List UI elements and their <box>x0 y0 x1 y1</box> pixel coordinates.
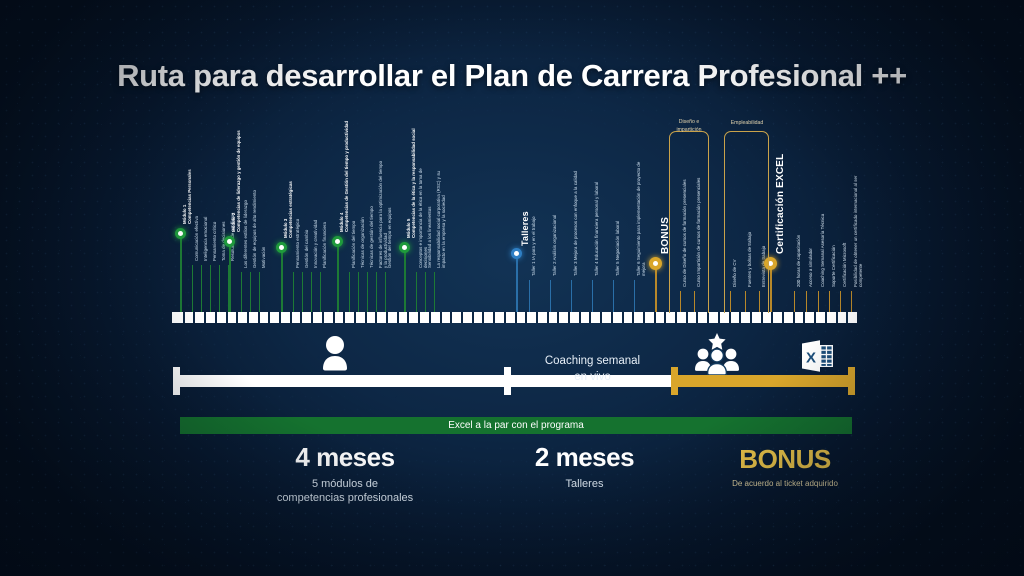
module-1-item-2: Inteligencia emocional <box>204 217 209 261</box>
node-stem <box>302 272 303 312</box>
node-dot[interactable] <box>332 236 343 247</box>
axis-tick <box>311 312 313 323</box>
axis-tick <box>825 312 827 323</box>
node-stem <box>806 291 807 312</box>
module-5-header-line2: Competencias de la ética y la responsabi… <box>412 128 417 238</box>
excel-cert-item-2: Acceso a simulador <box>809 248 814 287</box>
axis-tick <box>836 312 838 323</box>
node-stem <box>592 280 593 312</box>
axis-tick <box>204 312 206 323</box>
node-stem <box>770 262 772 312</box>
metric-bonus: BONUS De acuerdo al ticket adquirido <box>690 444 880 489</box>
axis-tick <box>525 312 527 323</box>
metric-sub-0: 5 módulos de competencias profesionales <box>230 477 460 506</box>
module-1-item-3: Pensamiento crítico <box>213 222 218 261</box>
node-dot-core <box>279 245 284 250</box>
axis-tick <box>632 312 634 323</box>
axis-tick <box>450 312 452 323</box>
axis-tick <box>696 312 698 323</box>
axis-tick <box>782 312 784 323</box>
node-stem <box>655 262 657 312</box>
axis-tick <box>247 312 249 323</box>
axis-tick <box>268 312 270 323</box>
node-dot[interactable] <box>511 248 522 259</box>
excel-cert-item-5: Certificación Microsoft <box>843 243 848 287</box>
axis-tick <box>290 312 292 323</box>
module-3-item-2: Gestión del cambio <box>305 230 310 268</box>
axis-tick <box>482 312 484 323</box>
axis-tick <box>814 312 816 323</box>
metric-sub-0-line1: 5 módulos de <box>230 477 460 491</box>
metric-2-meses: 2 meses Talleres <box>487 442 682 491</box>
axis-tick <box>183 312 185 323</box>
node-stem <box>425 272 426 312</box>
module-5-item-3: La responsabilidad social corporativa (R… <box>437 160 447 268</box>
node-stem <box>180 232 182 312</box>
node-stem <box>259 272 260 312</box>
axis-tick <box>643 312 645 323</box>
axis-tick <box>418 312 420 323</box>
node-dot[interactable] <box>276 242 287 253</box>
node-stem <box>349 272 350 312</box>
module-4-item-3: Técnicas de gestión del tiempo <box>370 206 375 268</box>
module-4-header-line2: Competencias de Gestión del tiempo y pro… <box>345 121 350 232</box>
node-stem <box>358 272 359 312</box>
axis-tick <box>375 312 377 323</box>
node-stem <box>229 240 231 312</box>
excel-cert-item-6: Posibilidad de obtener un certificado in… <box>854 169 864 287</box>
module-2-item-1: Los diferentes estilos de liderazgo <box>244 200 249 268</box>
coaching-label-line2: en vivo <box>510 370 675 386</box>
coaching-label: Coaching semanal en vivo <box>510 354 675 385</box>
module-1-header-line2: Competencias Personales <box>188 169 193 224</box>
axis-tick <box>622 312 624 323</box>
node-dot-core <box>178 231 183 236</box>
group-star-icon <box>693 333 741 375</box>
metric-number-1: 2 meses <box>487 442 682 473</box>
node-stem <box>634 280 635 312</box>
taller-item-1: Taller 1 IA para y en el trabajo <box>532 216 537 276</box>
axis-tick <box>504 312 506 323</box>
node-stem <box>840 291 841 312</box>
module-3-item-4: Planificación financiera <box>323 222 328 268</box>
node-stem <box>320 272 321 312</box>
axis-tick <box>664 312 666 323</box>
axis-tick <box>343 312 345 323</box>
node-stem <box>219 265 220 312</box>
axis-tick <box>461 312 463 323</box>
axis-tick <box>611 312 613 323</box>
talleres-header: Talleres <box>520 211 531 246</box>
timeline-cap-end <box>848 367 855 395</box>
taller-item-2: Taller 2 Análisis organizacional <box>553 215 558 276</box>
bracket-label-empleabilidad: Empleabilidad <box>714 120 780 126</box>
node-stem <box>192 265 193 312</box>
axis-tick <box>279 312 281 323</box>
module-2-item-2: Gestión de equipos de alto rendimiento <box>253 190 258 268</box>
page-title: Ruta para desarrollar el Plan de Carrera… <box>0 58 1024 94</box>
module-2-header-line2: Competencias de liderazgo y gestión de e… <box>237 130 242 232</box>
metric-4-meses: 4 meses 5 módulos de competencias profes… <box>230 442 460 506</box>
node-dot-core <box>335 239 340 244</box>
bracket-empleabilidad <box>724 131 769 313</box>
timeline-cap-start <box>173 367 180 395</box>
axis-tick <box>707 312 709 323</box>
node-stem <box>250 272 251 312</box>
node-stem <box>851 291 852 312</box>
axis-tick <box>718 312 720 323</box>
node-stem <box>201 265 202 312</box>
axis-tick <box>547 312 549 323</box>
module-3-header-line2: Competencias estratégicas <box>289 181 294 238</box>
timeline-axis <box>172 312 857 323</box>
axis-tick <box>846 312 848 323</box>
module-4-item-1: Planificación del tiempo <box>352 221 357 268</box>
axis-tick <box>472 312 474 323</box>
node-stem <box>550 280 551 312</box>
metric-sub-2: De acuerdo al ticket adquirido <box>690 479 880 489</box>
module-1-header: Módulo 1Competencias Personales <box>182 169 193 224</box>
node-stem <box>293 272 294 312</box>
bracket-label-diseno-line1: Diseño e <box>657 119 721 125</box>
module-3-header: Módulo 3Competencias estratégicas <box>283 181 294 238</box>
metric-sub-0-line2: competencias profesionales <box>230 491 460 505</box>
node-stem <box>404 246 406 312</box>
axis-tick <box>771 312 773 323</box>
node-stem <box>337 240 339 312</box>
axis-tick <box>300 312 302 323</box>
axis-tick <box>193 312 195 323</box>
excel-cert-item-4: Soporte Certificación <box>832 245 837 287</box>
metric-number-2: BONUS <box>690 444 880 475</box>
axis-tick <box>793 312 795 323</box>
axis-tick <box>589 312 591 323</box>
node-stem <box>613 280 614 312</box>
module-3-item-3: Innovación y creatividad <box>314 220 319 268</box>
axis-tick <box>579 312 581 323</box>
axis-tick <box>515 312 517 323</box>
bracket-label-diseno-line2: impartición <box>657 127 721 133</box>
node-stem <box>311 272 312 312</box>
excel-cert-item-3: Coaching Semanal Asesoría Técnica <box>821 214 826 287</box>
axis-tick <box>215 312 217 323</box>
node-stem <box>818 291 819 312</box>
timeline-segment-bonus <box>676 375 852 387</box>
axis-tick <box>600 312 602 323</box>
metric-number-0: 4 meses <box>230 442 460 473</box>
axis-tick <box>557 312 559 323</box>
axis-tick <box>761 312 763 323</box>
axis-tick <box>568 312 570 323</box>
taller-item-3: Taller 3 Mejora de procesos con enfoque … <box>574 171 579 276</box>
axis-tick <box>750 312 752 323</box>
node-dot-core <box>653 261 658 266</box>
axis-tick <box>536 312 538 323</box>
metric-sub-1: Talleres <box>487 477 682 491</box>
node-dot-core <box>402 245 407 250</box>
excel-cert-header: Certificación EXCEL <box>775 154 788 255</box>
node-stem <box>529 280 530 312</box>
axis-tick <box>407 312 409 323</box>
excel-parallel-label: Excel a la par con el programa <box>448 420 584 431</box>
bracket-diseno-imparticion <box>669 131 709 313</box>
axis-tick <box>803 312 805 323</box>
axis-tick <box>397 312 399 323</box>
node-stem <box>416 272 417 312</box>
axis-tick <box>333 312 335 323</box>
node-stem <box>434 272 435 312</box>
taller-item-5: Taller 5 Negociación laboral <box>616 221 621 276</box>
module-5-item-2: Sensibilidad a los lineamientos <box>428 207 433 268</box>
node-stem <box>241 272 242 312</box>
excel-parallel-bar: Excel a la par con el programa <box>180 417 852 434</box>
coaching-label-line1: Coaching semanal <box>510 354 675 370</box>
node-dot-core <box>768 261 773 266</box>
taller-item-6: Taller 6 Seguimiento para implementación… <box>637 154 647 276</box>
svg-text:X: X <box>806 350 816 367</box>
module-2-header: Módulo 2Competencias de liderazgo y gest… <box>231 130 242 232</box>
axis-tick <box>354 312 356 323</box>
excel-icon: X <box>798 337 836 375</box>
axis-tick <box>729 312 731 323</box>
axis-tick <box>739 312 741 323</box>
person-icon <box>318 335 352 373</box>
axis-tick <box>258 312 260 323</box>
node-stem <box>367 272 368 312</box>
node-dot[interactable] <box>649 257 662 270</box>
axis-tick <box>386 312 388 323</box>
node-stem <box>210 265 211 312</box>
module-2-item-3: Motivación <box>262 247 267 268</box>
module-1-item-1: Comunicación efectiva <box>195 216 200 261</box>
node-stem <box>281 246 283 312</box>
node-dot[interactable] <box>224 236 235 247</box>
axis-tick <box>322 312 324 323</box>
module-4-item-5: Gestión del tiempo en equipos <box>388 207 393 268</box>
axis-tick <box>236 312 238 323</box>
node-stem <box>571 280 572 312</box>
axis-tick <box>429 312 431 323</box>
excel-cert-item-1: 200 horas de capacitación <box>797 235 802 287</box>
node-dot-core <box>514 251 519 256</box>
axis-tick <box>365 312 367 323</box>
axis-tick <box>675 312 677 323</box>
axis-tick <box>226 312 228 323</box>
node-dot[interactable] <box>399 242 410 253</box>
node-dot[interactable] <box>175 228 186 239</box>
taller-item-4: Taller 4 Educación financiera personal y… <box>595 182 600 276</box>
module-5-header: Módulo 5Competencias de la ética y la re… <box>406 128 417 238</box>
module-4-item-2: Técnicas de organización <box>361 217 366 268</box>
axis-tick <box>654 312 656 323</box>
node-stem <box>516 252 518 312</box>
axis-tick <box>440 312 442 323</box>
node-stem <box>794 291 795 312</box>
node-dot-core <box>227 239 232 244</box>
axis-tick <box>493 312 495 323</box>
node-stem <box>829 291 830 312</box>
module-4-header: Módulo 4Competencias de Gestión del tiem… <box>339 121 350 232</box>
axis-tick <box>686 312 688 323</box>
node-stem <box>376 272 377 312</box>
node-stem <box>385 272 386 312</box>
module-3-item-1: Pensamiento estratégico <box>296 219 301 268</box>
